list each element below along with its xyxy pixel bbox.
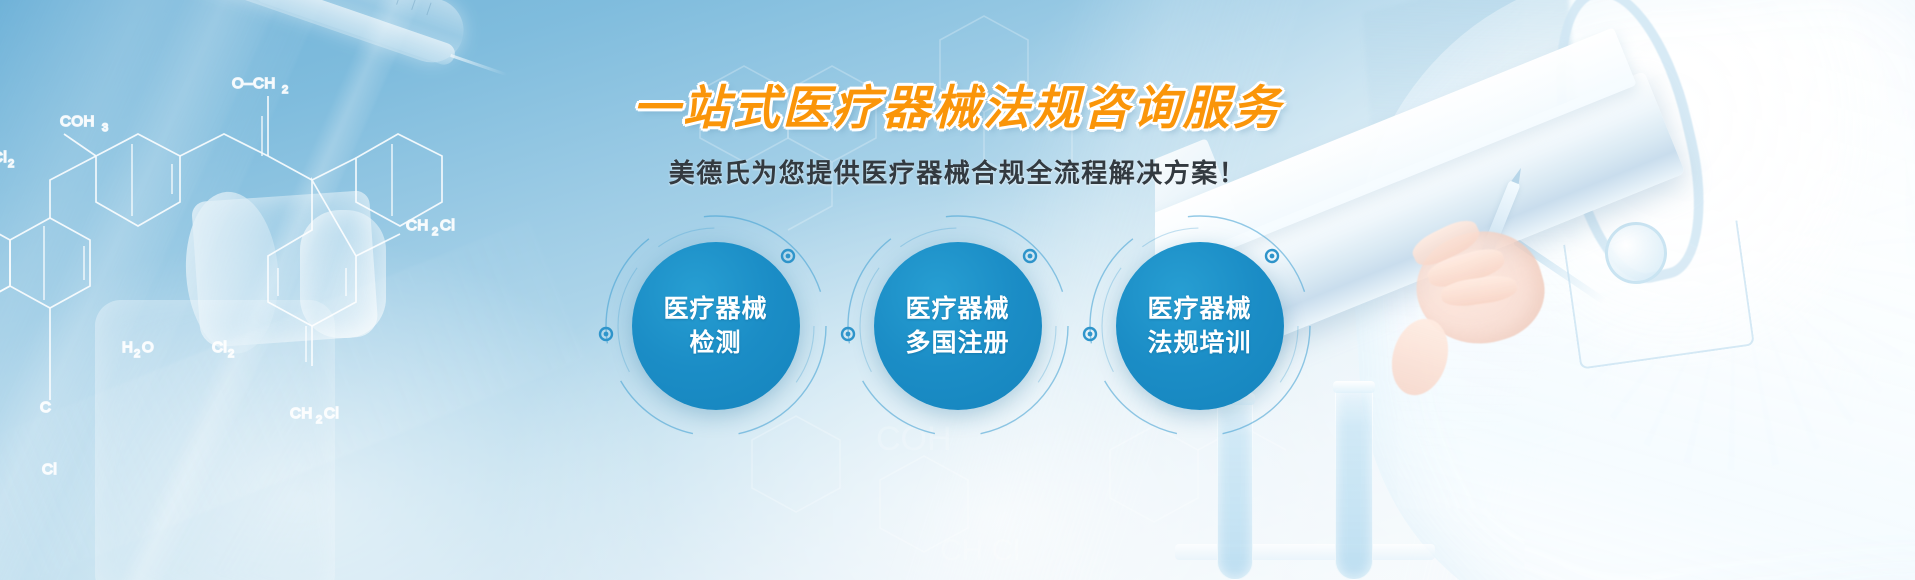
service-label-line2: 检测 bbox=[689, 326, 741, 360]
service-label-line1: 医疗器械 bbox=[663, 292, 767, 326]
test-tube bbox=[1217, 400, 1253, 580]
service-circle-multi-country-registration[interactable]: 医疗器械 多国注册 bbox=[858, 226, 1058, 426]
service-label-line1: 医疗器械 bbox=[1147, 292, 1251, 326]
hero-banner: Cl2 COH3 O–CH2 CH2Cl H2O Cl2 CH2Cl Cl C … bbox=[0, 0, 1915, 580]
svg-text:Cl: Cl bbox=[42, 461, 57, 478]
banner-title: 一站式医疗器械法规咨询服务 bbox=[633, 84, 1283, 133]
service-disc[interactable]: 医疗器械 多国注册 bbox=[874, 242, 1042, 410]
svg-text:CH Cl: CH Cl bbox=[940, 534, 1020, 567]
service-circle-group: 医疗器械 检测 医疗器械 多国注册 bbox=[0, 226, 1915, 426]
service-label-line2: 多国注册 bbox=[905, 326, 1009, 360]
service-label-line2: 法规培训 bbox=[1147, 326, 1251, 360]
headline-block: 一站式医疗器械法规咨询服务 美德氏为您提供医疗器械合规全流程解决方案！ bbox=[0, 84, 1915, 190]
service-circle-medical-device-testing[interactable]: 医疗器械 检测 bbox=[616, 226, 816, 426]
service-circle-regulatory-training[interactable]: 医疗器械 法规培训 bbox=[1100, 226, 1300, 426]
service-disc[interactable]: 医疗器械 法规培训 bbox=[1116, 242, 1284, 410]
service-disc[interactable]: 医疗器械 检测 bbox=[632, 242, 800, 410]
banner-subtitle: 美德氏为您提供医疗器械合规全流程解决方案！ bbox=[0, 153, 1915, 190]
test-tube-rack bbox=[1175, 544, 1435, 560]
service-label-line1: 医疗器械 bbox=[905, 292, 1009, 326]
